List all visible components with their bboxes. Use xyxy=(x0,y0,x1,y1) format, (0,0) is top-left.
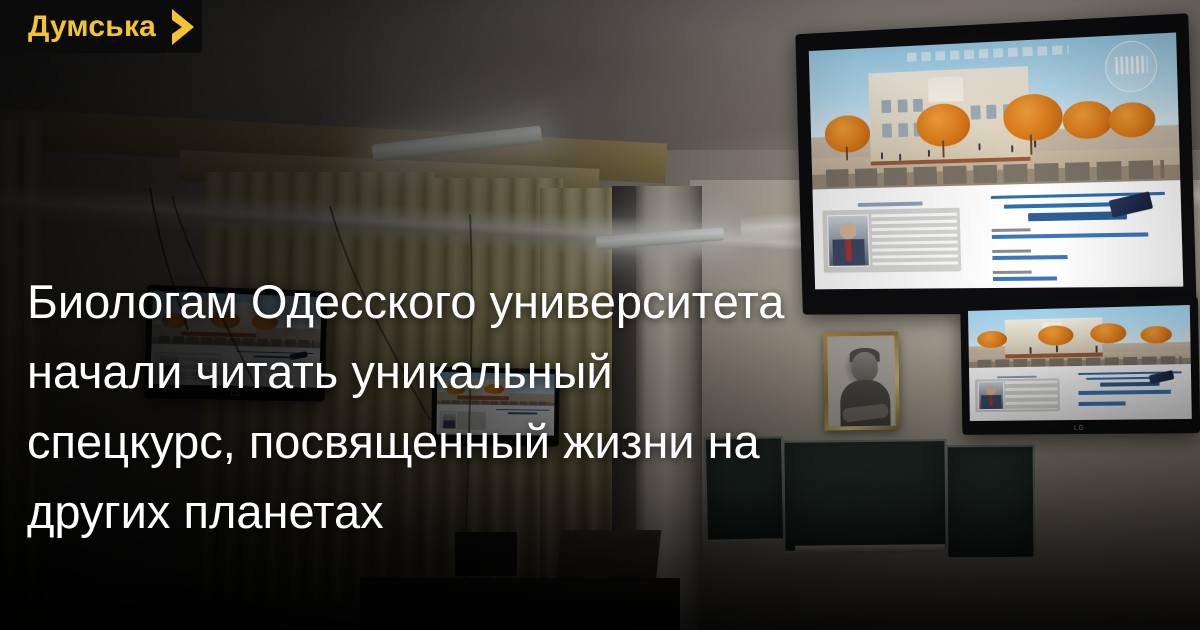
site-logo-badge[interactable]: Думська xyxy=(0,0,202,53)
logo-plate[interactable]: Думська xyxy=(0,0,170,53)
chevron-right-icon xyxy=(168,0,202,53)
page-title: Биологам Одесского университета начали ч… xyxy=(27,267,787,547)
logo-text: Думська xyxy=(28,12,156,42)
share-card: LG xyxy=(0,0,1200,630)
